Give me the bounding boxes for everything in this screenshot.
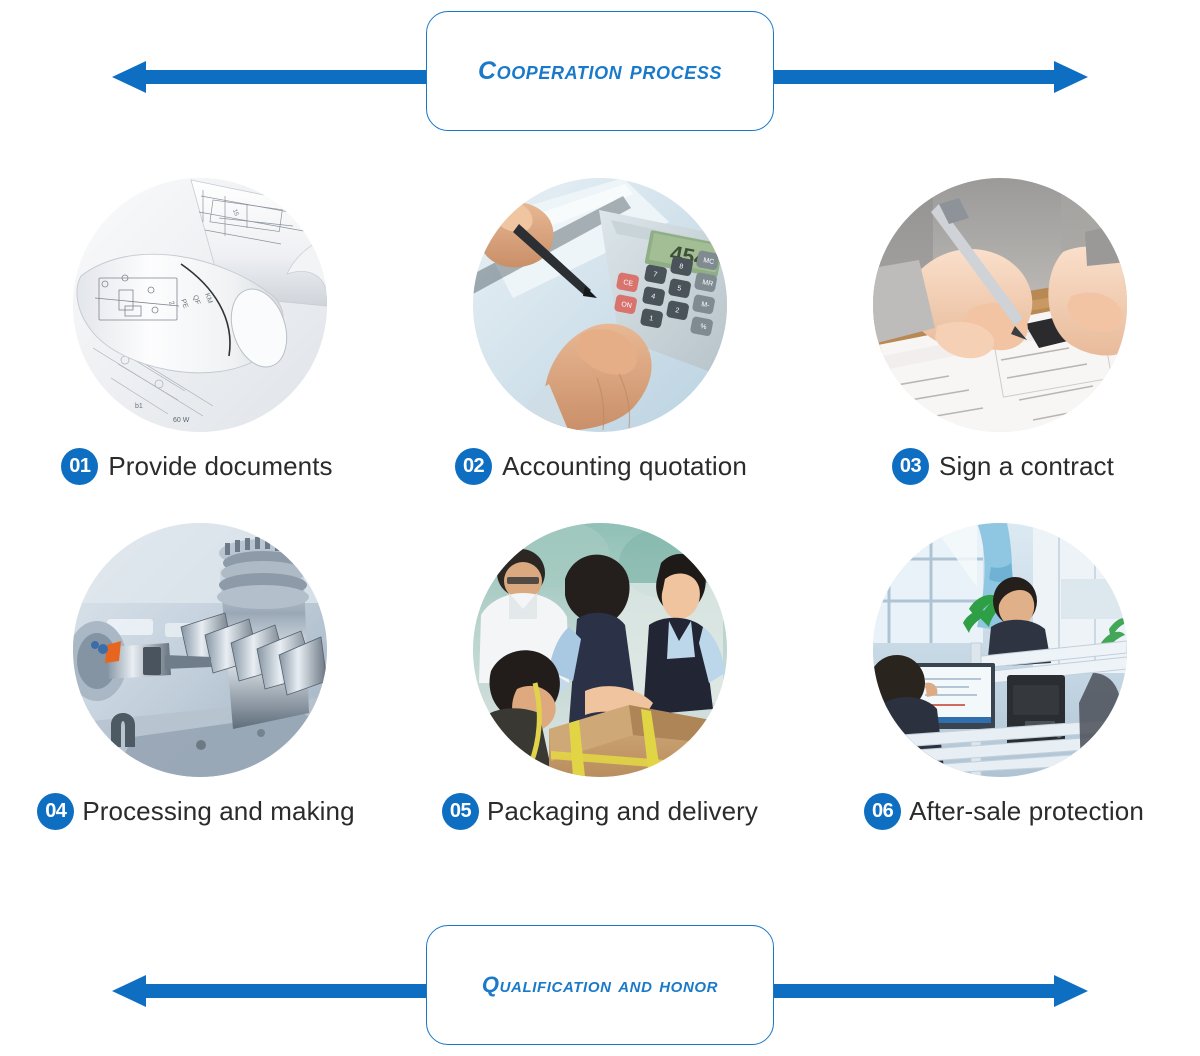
qualification-honor-banner: Qualification and honor xyxy=(0,922,1200,1048)
step-badge-06: 06 xyxy=(864,793,901,830)
caption-01: 01 Provide documents xyxy=(61,448,332,485)
steps-row-2: 04 Processing and making xyxy=(0,523,1200,868)
hands-calculator-photo: 4549 xyxy=(473,178,727,432)
step-card-05[interactable]: 05 Packaging and delivery xyxy=(400,523,800,868)
banner-box-top: Cooperation process xyxy=(426,11,774,131)
caption-04: 04 Processing and making xyxy=(37,793,354,830)
office-staff-computers-photo xyxy=(873,523,1127,777)
step-card-03[interactable]: 03 Sign a contract xyxy=(800,178,1200,523)
step-card-01[interactable]: b1 60 W xyxy=(0,178,400,523)
cnc-machining-photo xyxy=(73,523,327,777)
rolled-blueprints-photo: b1 60 W xyxy=(73,178,327,432)
banner-title-top: Cooperation process xyxy=(478,57,722,86)
arrow-right-icon xyxy=(758,974,1088,996)
step-label-02: Accounting quotation xyxy=(502,451,747,482)
steps-row-1: b1 60 W xyxy=(0,178,1200,523)
workers-packing-boxes-photo xyxy=(473,523,727,777)
signing-contract-photo xyxy=(873,178,1127,432)
step-badge-05: 05 xyxy=(442,793,479,830)
step-badge-02: 02 xyxy=(455,448,492,485)
step-label-04: Processing and making xyxy=(82,796,354,827)
caption-03: 03 Sign a contract xyxy=(892,448,1114,485)
svg-text:60 W: 60 W xyxy=(173,417,190,424)
step-card-02[interactable]: 4549 xyxy=(400,178,800,523)
svg-text:b1: b1 xyxy=(135,403,143,410)
cooperation-steps: b1 60 W xyxy=(0,178,1200,868)
step-card-06[interactable]: 06 After-sale protection xyxy=(800,523,1200,868)
step-card-04[interactable]: 04 Processing and making xyxy=(0,523,400,868)
svg-text:%: % xyxy=(700,323,707,331)
caption-06: 06 After-sale protection xyxy=(864,793,1144,830)
step-label-03: Sign a contract xyxy=(939,451,1114,482)
arrow-left-icon xyxy=(112,974,442,996)
cooperation-process-banner: Cooperation process xyxy=(0,8,1200,134)
step-label-05: Packaging and delivery xyxy=(487,796,758,827)
step-badge-03: 03 xyxy=(892,448,929,485)
step-label-01: Provide documents xyxy=(108,451,332,482)
step-label-06: After-sale protection xyxy=(909,796,1144,827)
banner-title-bottom: Qualification and honor xyxy=(482,972,718,998)
caption-02: 02 Accounting quotation xyxy=(455,448,747,485)
step-badge-04: 04 xyxy=(37,793,74,830)
arrow-right-icon xyxy=(758,60,1088,82)
caption-05: 05 Packaging and delivery xyxy=(442,793,758,830)
arrow-left-icon xyxy=(112,60,442,82)
step-badge-01: 01 xyxy=(61,448,98,485)
banner-box-bottom: Qualification and honor xyxy=(426,925,774,1045)
